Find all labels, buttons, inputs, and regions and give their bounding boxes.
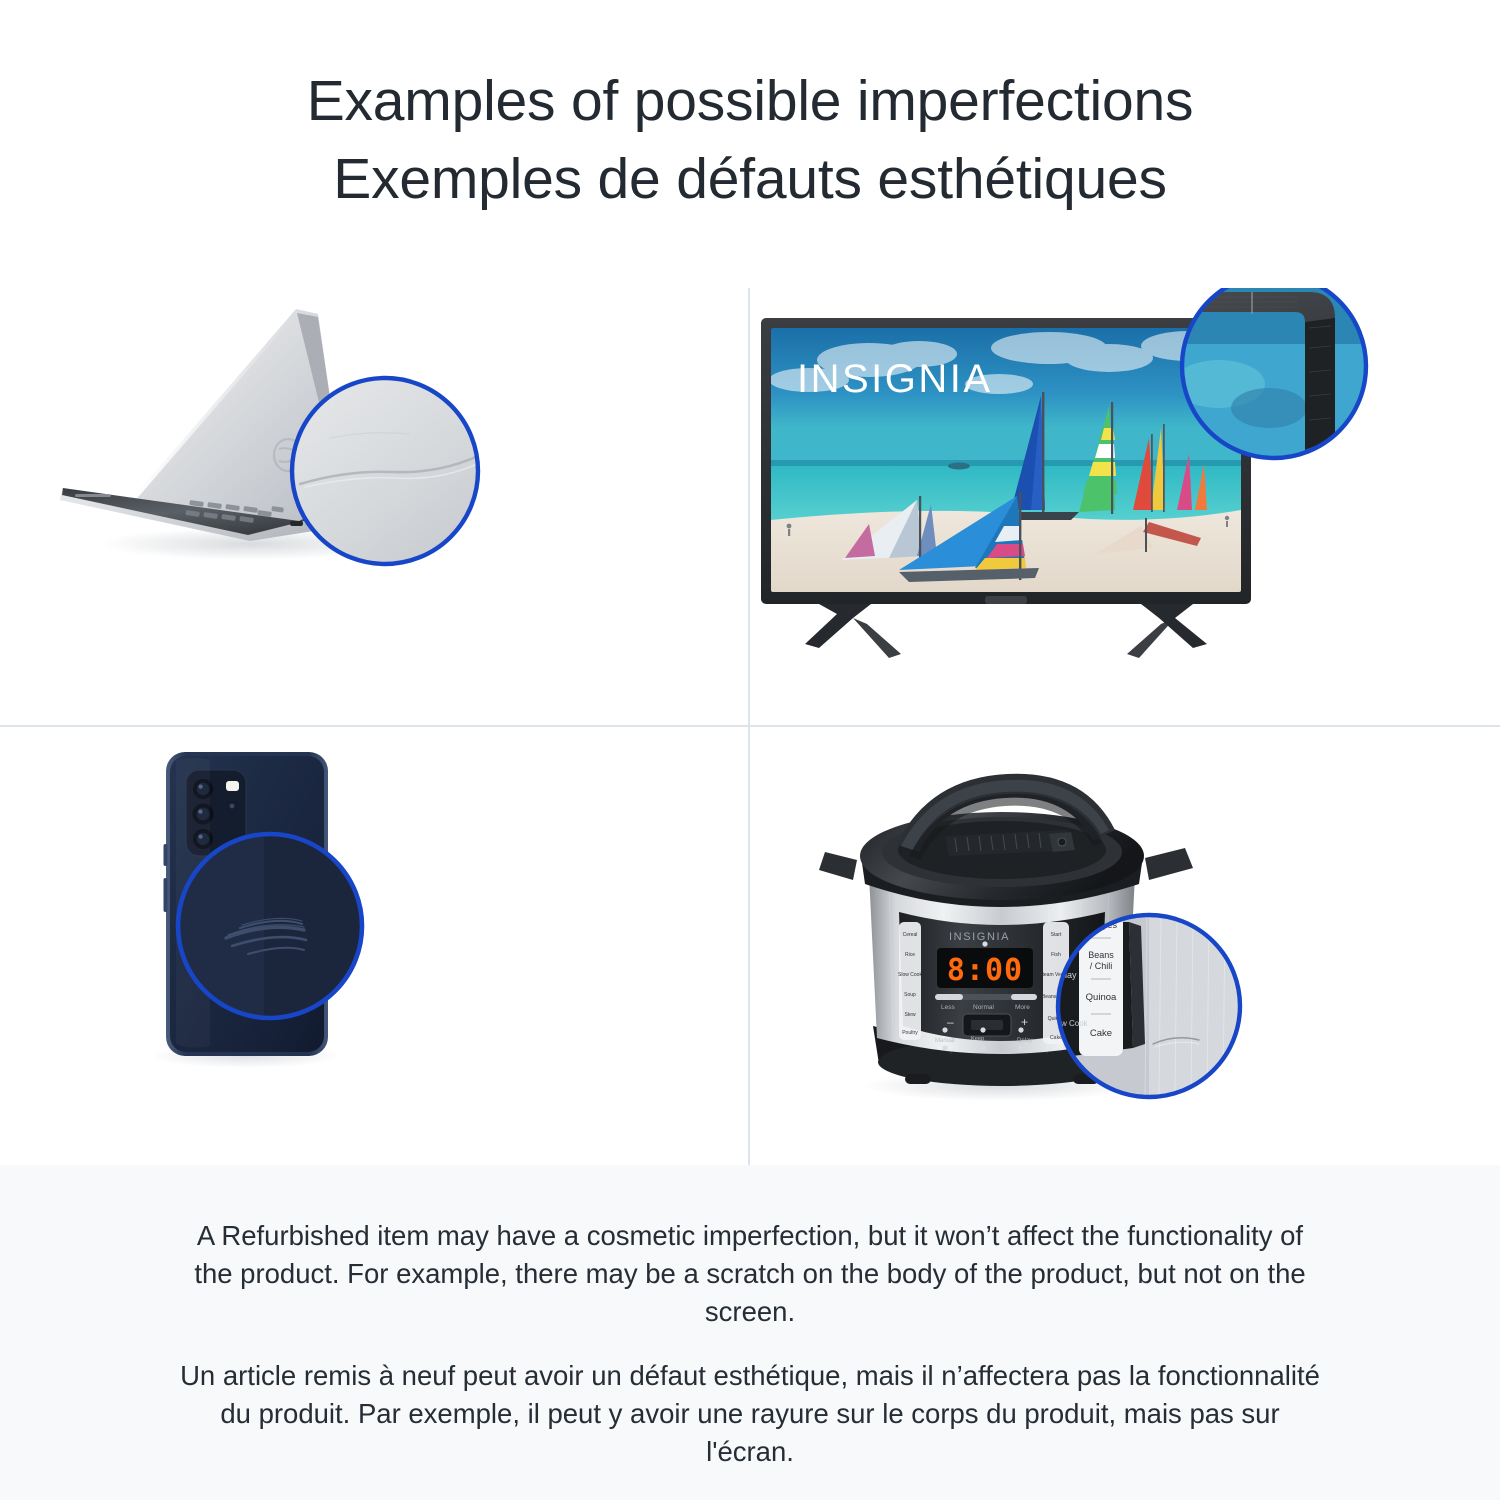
cooker-center-button[interactable] <box>963 1014 1011 1036</box>
cooker-button-delay[interactable]: Delay <box>1017 1038 1032 1044</box>
slider-label-more: More <box>1015 1004 1030 1011</box>
cooker-display-value: 8:00 <box>947 953 1023 988</box>
magnified-button-quinoa[interactable]: Quinoa <box>1086 992 1117 1003</box>
cooker-button-slow-cook[interactable]: Slow Cook <box>898 972 922 978</box>
laptop-scratch-magnifier <box>292 378 478 564</box>
phone-illustration <box>0 726 748 1165</box>
tv-screen-brand-text: INSIGNIA <box>797 357 993 401</box>
tv-example-cell: INSIGNIA <box>749 288 1500 725</box>
phone-example-cell <box>0 726 748 1165</box>
page-title-french: Exemples de défauts esthétiques <box>333 140 1167 218</box>
cooker-button-stew[interactable]: Stew <box>904 1012 916 1018</box>
cooker-brand-text: INSIGNIA <box>949 931 1010 943</box>
camera-sensor <box>230 804 235 809</box>
laptop-illustration <box>0 288 748 725</box>
plus-icon[interactable]: + <box>1021 1015 1028 1029</box>
tv-screen-image: INSIGNIA <box>769 328 1241 592</box>
page-header: Examples of possible imperfections Exemp… <box>0 0 1500 288</box>
phone-scratch-magnifier <box>178 834 362 1018</box>
cooker-scratch-magnifier: Veggies Beans / Chili Quinoa Cake lay w … <box>1058 914 1240 1097</box>
phone-power-button <box>164 878 168 912</box>
cooker-button-cereal[interactable]: Cereal <box>903 932 918 938</box>
slider-label-less: Less <box>941 1004 955 1011</box>
cooker-button-poultry[interactable]: Poultry <box>902 1030 918 1036</box>
magnified-button-beans-line2[interactable]: / Chili <box>1090 961 1113 971</box>
phone-volume-button <box>164 844 168 866</box>
magnified-label-slow-cook: w Cook <box>1060 1019 1089 1028</box>
magnified-button-cake[interactable]: Cake <box>1090 1028 1112 1039</box>
footer-paragraph-english: A Refurbished item may have a cosmetic i… <box>180 1217 1320 1331</box>
laptop-example-cell <box>0 288 748 725</box>
cooker-display: 8:00 <box>937 941 1033 988</box>
tv-illustration: INSIGNIA <box>749 288 1500 725</box>
product-examples-grid: INSIGNIA <box>0 288 1500 1165</box>
cooker-button-start[interactable]: Start <box>1051 932 1063 938</box>
cooker-button-cake[interactable]: Cake <box>1050 1035 1062 1041</box>
camera-flash <box>226 781 239 791</box>
cooker-foot-left <box>905 1074 931 1084</box>
cooker-side-handle-right <box>1145 848 1193 880</box>
tv-ir-sensor <box>985 596 1027 604</box>
pressure-cooker-illustration: INSIGNIA 8:00 Less Normal More <box>749 726 1500 1165</box>
cooker-button-fish[interactable]: Fish <box>1051 952 1061 958</box>
tv-legs <box>805 604 1207 658</box>
cooker-left-buttons[interactable]: Cereal Rice Slow Cook Soup Stew Poultry <box>898 922 922 1040</box>
footer-paragraph-french: Un article remis à neuf peut avoir un dé… <box>180 1357 1320 1471</box>
tv-body: INSIGNIA <box>761 318 1251 658</box>
cooker-button-keep-warm[interactable]: Keep <box>971 1036 984 1042</box>
cooker-example-cell: INSIGNIA 8:00 Less Normal More <box>749 726 1500 1165</box>
magnified-button-beans-line1[interactable]: Beans <box>1088 950 1114 960</box>
explanatory-footer: A Refurbished item may have a cosmetic i… <box>0 1165 1500 1500</box>
minus-icon[interactable]: – <box>947 1015 954 1029</box>
cooker-side-handle-left <box>819 852 857 880</box>
cooker-button-rice[interactable]: Rice <box>905 952 915 958</box>
cooker-button-manual[interactable]: Manual <box>935 1038 955 1044</box>
refurbished-imperfections-infographic: Examples of possible imperfections Exemp… <box>0 0 1500 1500</box>
page-title-english: Examples of possible imperfections <box>307 62 1194 140</box>
cooker-button-soup[interactable]: Soup <box>904 992 916 998</box>
slider-label-normal: Normal <box>973 1004 995 1011</box>
